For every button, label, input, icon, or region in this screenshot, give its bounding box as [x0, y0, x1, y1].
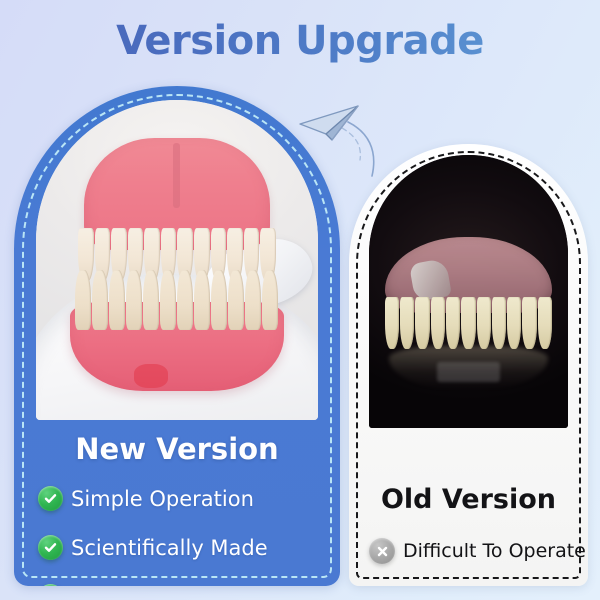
denture-clasp: [409, 258, 452, 302]
cross-circle-icon: [369, 538, 395, 564]
page-title: Version Upgrade: [0, 18, 600, 64]
new-version-panel: New Version Simple Operation Scientifica…: [14, 86, 340, 586]
old-teeth-row: [385, 297, 552, 349]
denture-illustration-old: [369, 155, 568, 428]
old-version-heading: Old Version: [349, 484, 588, 515]
feature-label: Simple Operation: [71, 487, 254, 511]
check-circle-icon: [38, 535, 63, 560]
check-circle-icon: [38, 584, 63, 586]
list-item: Quality Assurance: [38, 584, 340, 586]
list-item: Scientifically Made: [38, 535, 340, 560]
lower-teeth-row: [75, 270, 278, 331]
list-item: Difficult To Operate: [369, 538, 588, 564]
feature-label: Scientifically Made: [71, 536, 268, 560]
new-version-feature-list: Simple Operation Scientifically Made Qua…: [14, 486, 340, 586]
check-circle-icon: [38, 486, 63, 511]
denture-illustration-new: [36, 100, 318, 420]
old-version-photo: [369, 155, 568, 428]
photo-watermark: [437, 362, 501, 381]
old-version-feature-list: Difficult To Operate Crude Production Po…: [349, 538, 588, 586]
list-item: Simple Operation: [38, 486, 340, 511]
feature-label: Difficult To Operate: [403, 540, 586, 562]
old-version-panel: Old Version Difficult To Operate Crude P…: [349, 144, 588, 586]
new-version-heading: New Version: [14, 432, 340, 466]
new-version-photo: [36, 100, 318, 420]
feature-label: Quality Assurance: [71, 585, 262, 587]
